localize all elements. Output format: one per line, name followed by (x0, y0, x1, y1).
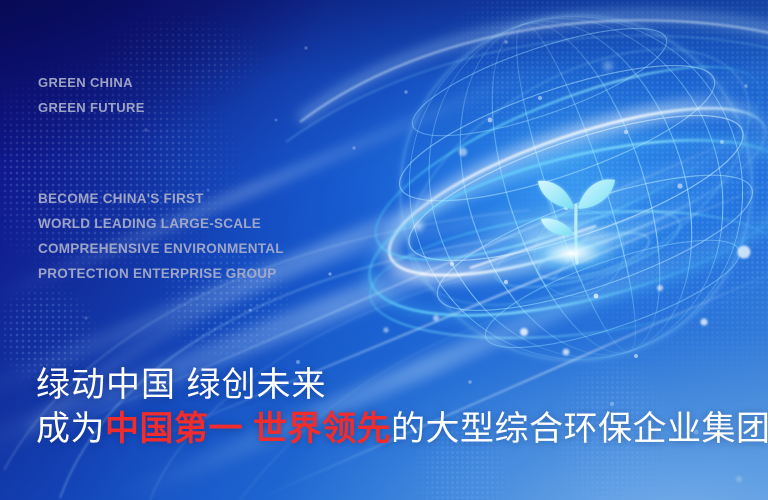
sprout-seedling-icon (533, 163, 619, 273)
mission-line-1: BECOME CHINA'S FIRST (38, 186, 284, 211)
mission-statement-block: BECOME CHINA'S FIRST WORLD LEADING LARGE… (38, 186, 284, 286)
headline-line-2: 成为中国第一 世界领先的大型综合环保企业集团 (36, 407, 768, 451)
headline-line-1: 绿动中国 绿创未来 (36, 363, 768, 407)
mission-line-2: WORLD LEADING LARGE-SCALE (38, 211, 284, 236)
mission-line-3: COMPREHENSIVE ENVIRONMENTAL (38, 236, 284, 261)
headline-block: 绿动中国 绿创未来 成为中国第一 世界领先的大型综合环保企业集团 (36, 363, 768, 451)
headline-prefix: 成为 (36, 410, 105, 448)
headline-accent: 中国第一 世界领先 (105, 410, 391, 448)
mission-line-4: PROTECTION ENTERPRISE GROUP (38, 261, 284, 286)
headline-suffix: 的大型综合环保企业集团 (391, 410, 768, 448)
tagline-line-2: GREEN FUTURE (38, 95, 145, 120)
tagline-line-1: GREEN CHINA (38, 70, 145, 95)
hero-banner: GREEN CHINA GREEN FUTURE BECOME CHINA'S … (0, 0, 768, 500)
tagline-block: GREEN CHINA GREEN FUTURE (38, 70, 145, 120)
